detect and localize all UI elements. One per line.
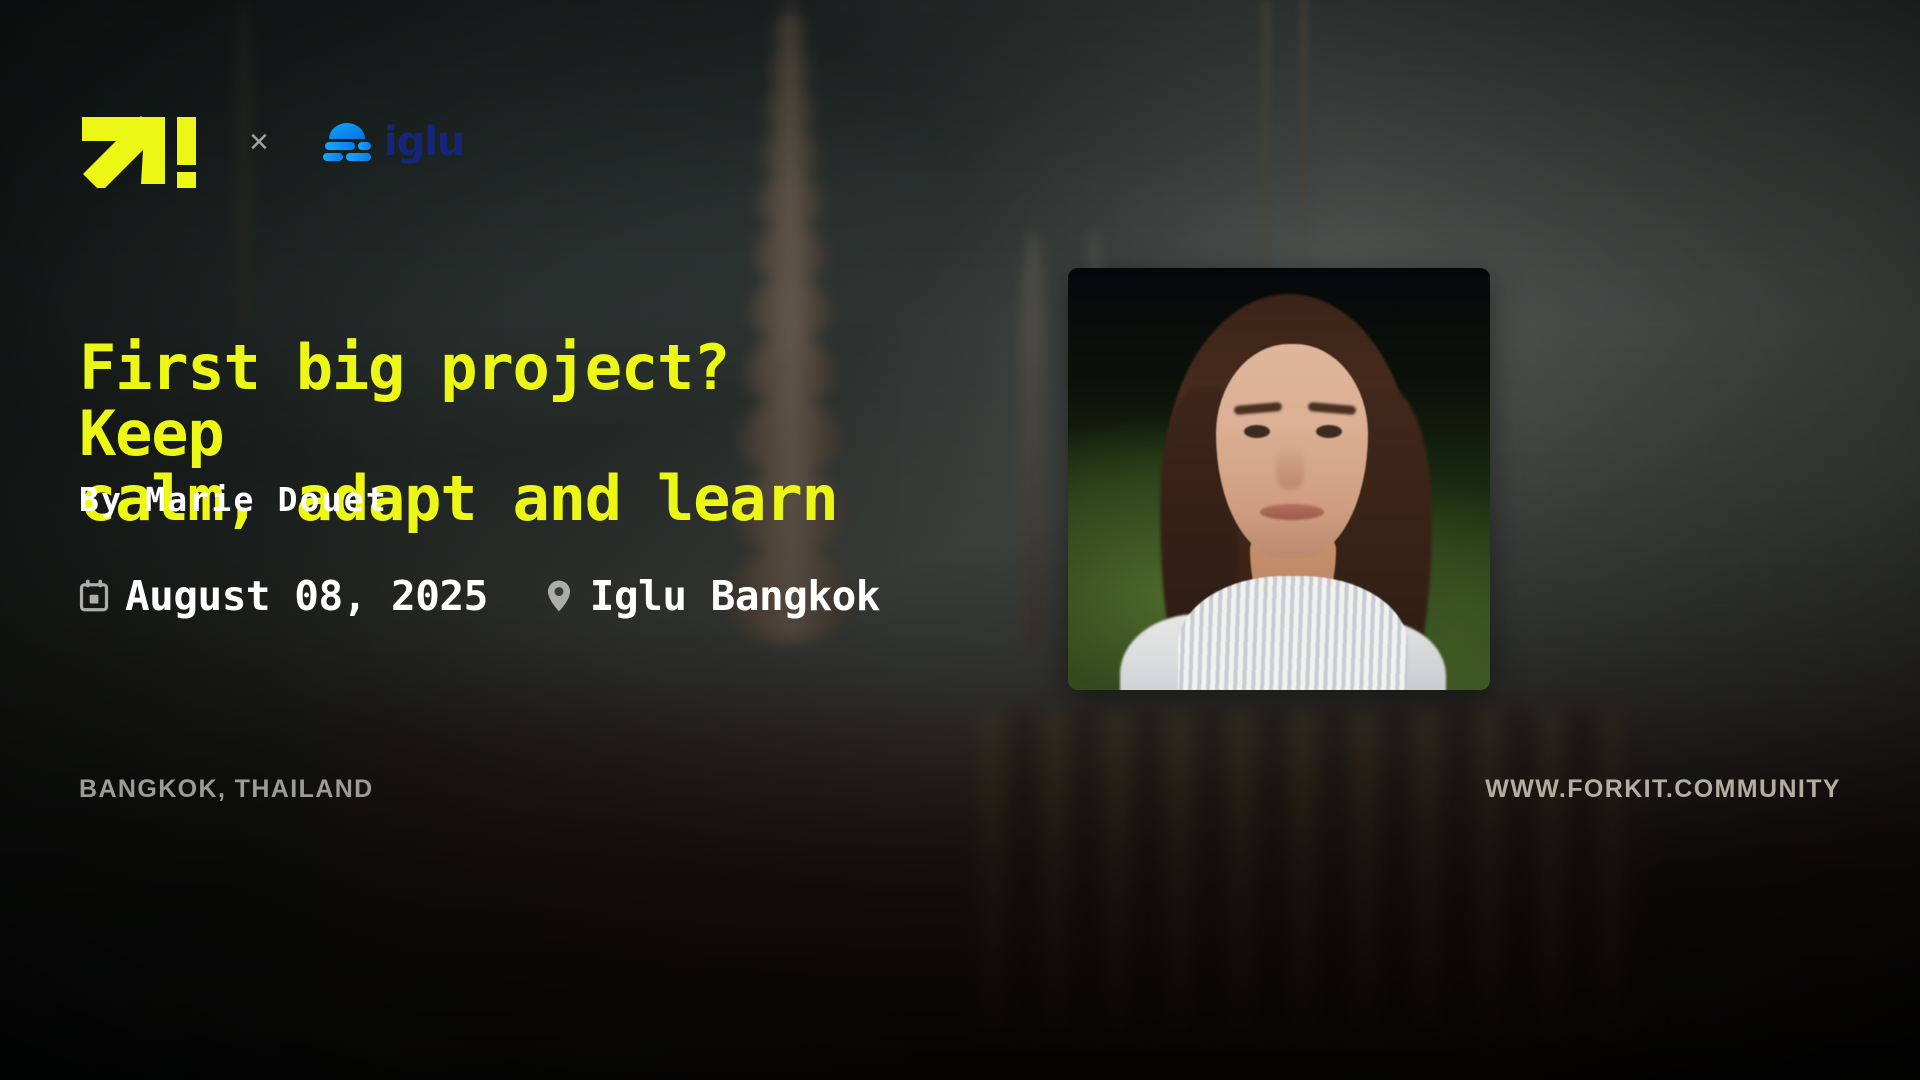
footer-city: BANGKOK, THAILAND — [79, 775, 374, 804]
event-meta-row: August 08, 2025 Iglu Bangkok — [79, 572, 880, 620]
logo-row: × iglu — [79, 96, 464, 188]
event-date: August 08, 2025 — [125, 572, 488, 620]
portrait-grain — [1068, 268, 1490, 690]
speaker-photo — [1068, 268, 1490, 690]
forkit-arrow-logo[interactable] — [79, 96, 197, 188]
map-pin-icon — [544, 579, 574, 613]
event-location: Iglu Bangkok — [590, 572, 880, 620]
speaker-byline: By Marie Douet — [79, 480, 388, 519]
iglu-logo[interactable]: iglu — [321, 119, 465, 165]
title-line-1: First big project? Keep — [79, 331, 729, 470]
footer-website[interactable]: WWW.FORKIT.COMMUNITY — [1485, 775, 1841, 804]
iglu-wordmark: iglu — [384, 119, 465, 165]
logo-separator-x: × — [249, 125, 269, 159]
event-announcement-poster: × iglu — [0, 0, 1920, 1080]
event-date-item: August 08, 2025 — [79, 572, 488, 620]
event-location-item: Iglu Bangkok — [544, 572, 880, 620]
calendar-icon — [79, 579, 109, 613]
iglu-dome-icon — [321, 122, 373, 162]
